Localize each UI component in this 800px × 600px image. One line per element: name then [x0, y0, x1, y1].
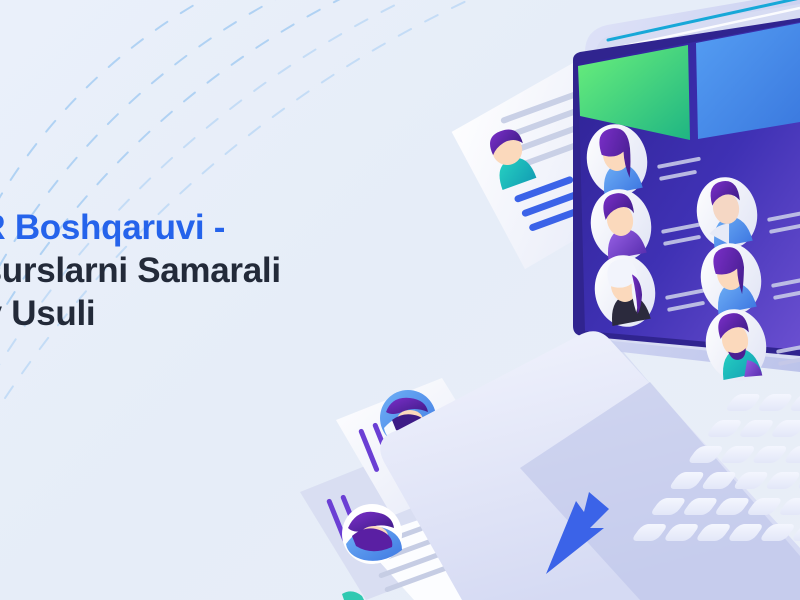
avatar-card-mid	[342, 504, 402, 564]
headline-line-3: qaruv Usuli	[0, 292, 528, 335]
blue-panel	[696, 23, 800, 139]
teal-sliver	[342, 591, 364, 600]
illustration-banner: ali HR Boshqaruvi - n Resurslarni Samara…	[0, 0, 800, 600]
headline-line-2: n Resurslarni Samarali	[0, 249, 528, 292]
headline-line-1: ali HR Boshqaruvi -	[0, 206, 528, 249]
headline: ali HR Boshqaruvi - n Resurslarni Samara…	[0, 206, 528, 335]
